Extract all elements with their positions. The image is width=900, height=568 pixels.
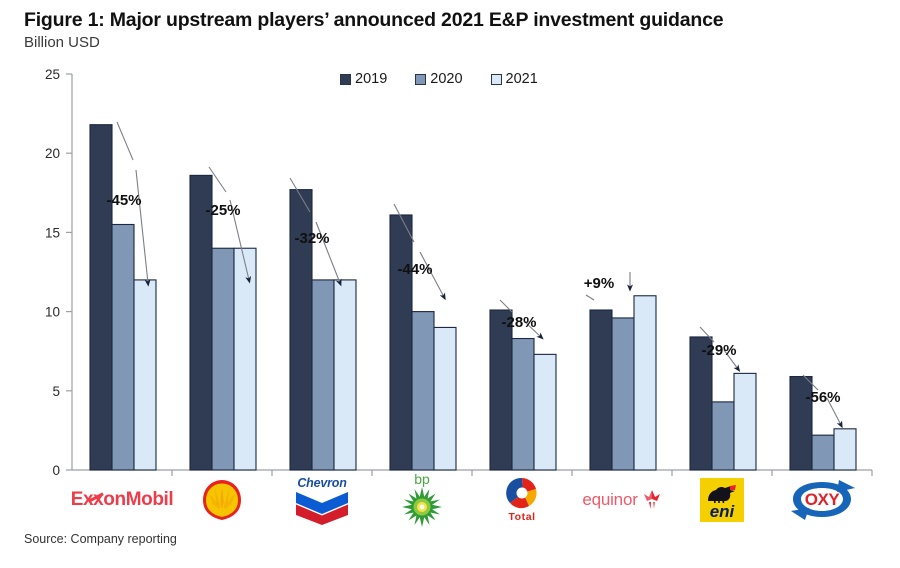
annotation-arrow (525, 322, 541, 337)
bar[interactable] (90, 125, 112, 470)
equinor-logo-mark (642, 489, 662, 511)
legend-entry-2020[interactable]: 2020 (415, 72, 462, 86)
bar[interactable] (334, 280, 356, 470)
annotation-label: -44% (397, 261, 432, 278)
annotation-leader-line (700, 327, 714, 342)
figure-container: Figure 1: Major upstream players’ announ… (0, 0, 900, 568)
annotation-group: -45%-25%-32%-44%-28%+9%-29%-56% (106, 122, 841, 425)
bar[interactable] (490, 310, 512, 470)
bar[interactable] (834, 429, 856, 470)
bar[interactable] (712, 402, 734, 470)
bar-group (290, 190, 356, 470)
legend-swatch-2020 (415, 74, 426, 85)
x-axis-logo-row: ExxonMobil Chevron (0, 472, 900, 528)
bar-group (490, 310, 556, 470)
bar-group (390, 215, 456, 470)
change-annotation: -44% (394, 204, 444, 297)
annotation-leader-line (209, 167, 226, 192)
annotation-label: -32% (294, 230, 329, 247)
y-tick-marks (66, 74, 72, 470)
annotation-leader-line (394, 204, 414, 242)
annotation-arrow (827, 398, 841, 425)
logo-cell-shell (172, 472, 272, 528)
equinor-logo-text: equinor (582, 490, 637, 510)
annotation-arrow (420, 252, 444, 297)
oxy-logo: OXY (787, 478, 857, 522)
annotation-label: -56% (805, 389, 840, 406)
change-annotation: -28% (500, 300, 541, 337)
shell-logo (198, 477, 246, 523)
legend-label-2021: 2021 (506, 72, 538, 86)
bar-group (690, 337, 756, 470)
legend-entry-2019[interactable]: 2019 (340, 72, 387, 86)
bar[interactable] (290, 190, 312, 470)
annotation-leader-line (803, 375, 818, 390)
change-annotation: -25% (205, 167, 249, 280)
annotation-arrow (230, 200, 249, 280)
bar[interactable] (690, 337, 712, 470)
bar[interactable] (734, 373, 756, 470)
bar-group (190, 175, 256, 470)
source-note: Source: Company reporting (24, 532, 177, 546)
legend-label-2019: 2019 (355, 72, 387, 86)
eni-logo-dog-icon (705, 484, 739, 504)
logo-cell-eni: eni (672, 472, 772, 528)
annotation-arrow (316, 222, 340, 283)
eni-logo: eni (700, 478, 744, 522)
change-annotation: +9% (584, 272, 630, 300)
change-annotation: -32% (290, 178, 340, 283)
bar[interactable] (812, 435, 834, 470)
bar[interactable] (112, 224, 134, 470)
bar[interactable] (390, 215, 412, 470)
bar[interactable] (312, 280, 334, 470)
logo-cell-equinor: equinor (572, 472, 672, 528)
bar[interactable] (434, 327, 456, 470)
logo-cell-total: Total (472, 472, 572, 528)
bar[interactable] (612, 318, 634, 470)
logo-cell-chevron: Chevron (272, 472, 372, 528)
y-tick-label-25: 25 (45, 67, 60, 82)
bar[interactable] (534, 354, 556, 470)
bar-group (790, 377, 856, 470)
annotation-leader-line (586, 295, 594, 300)
bar[interactable] (790, 377, 812, 470)
total-logo-text: Total (508, 511, 535, 523)
eni-logo-text: eni (710, 503, 735, 520)
bar[interactable] (590, 310, 612, 470)
change-annotation: -29% (700, 327, 738, 369)
bp-logo-text: bp (414, 473, 430, 486)
annotation-leader-line (290, 178, 310, 212)
legend-entry-2021[interactable]: 2021 (491, 72, 538, 86)
annotation-arrow (136, 170, 148, 283)
annotation-label: -29% (701, 342, 736, 359)
exxonmobil-logo: ExxonMobil (71, 489, 174, 511)
annotation-leader-line (500, 300, 512, 312)
figure-title: Figure 1: Major upstream players’ announ… (24, 8, 874, 32)
bar[interactable] (190, 175, 212, 470)
logo-cell-exxonmobil: ExxonMobil (72, 472, 172, 528)
figure-subtitle: Billion USD (24, 33, 874, 53)
y-axis (72, 74, 872, 470)
y-tick-label-15: 15 (45, 225, 60, 240)
y-tick-label-20: 20 (45, 146, 60, 161)
logo-cell-bp: bp (372, 472, 472, 528)
change-annotation: -56% (803, 375, 841, 425)
y-tick-label-10: 10 (45, 305, 60, 320)
bar[interactable] (512, 339, 534, 470)
legend-swatch-2019 (340, 74, 351, 85)
chevron-logo-text: Chevron (297, 476, 346, 490)
figure-header: Figure 1: Major upstream players’ announ… (24, 8, 874, 53)
bar[interactable] (412, 312, 434, 470)
bar[interactable] (134, 280, 156, 470)
oxy-logo-text: OXY (805, 490, 839, 510)
legend-label-2020: 2020 (430, 72, 462, 86)
annotation-label: -28% (501, 314, 536, 331)
annotation-arrow (724, 350, 738, 369)
chart-legend: 2019 2020 2021 (340, 72, 538, 86)
bar-group (90, 125, 156, 470)
annotation-label: +9% (584, 275, 614, 292)
logo-cell-oxy: OXY (772, 472, 872, 528)
bar-group (590, 296, 656, 470)
annotation-label: -45% (106, 192, 141, 209)
annotation-leader-line (117, 122, 133, 160)
bar[interactable] (212, 248, 234, 470)
bar[interactable] (234, 248, 256, 470)
annotation-label: -25% (205, 202, 240, 219)
legend-swatch-2021 (491, 74, 502, 85)
y-tick-labels: 0 5 10 15 20 25 (45, 67, 60, 478)
bar[interactable] (634, 296, 656, 470)
bp-logo-mark (401, 486, 443, 528)
bar-series-group (90, 125, 856, 470)
y-tick-label-5: 5 (52, 384, 60, 399)
exxonmobil-logo-text: ExxonMobil (71, 489, 174, 510)
total-logo-mark (503, 477, 541, 511)
change-annotation: -45% (106, 122, 148, 283)
chevron-logo-mark (294, 491, 350, 525)
